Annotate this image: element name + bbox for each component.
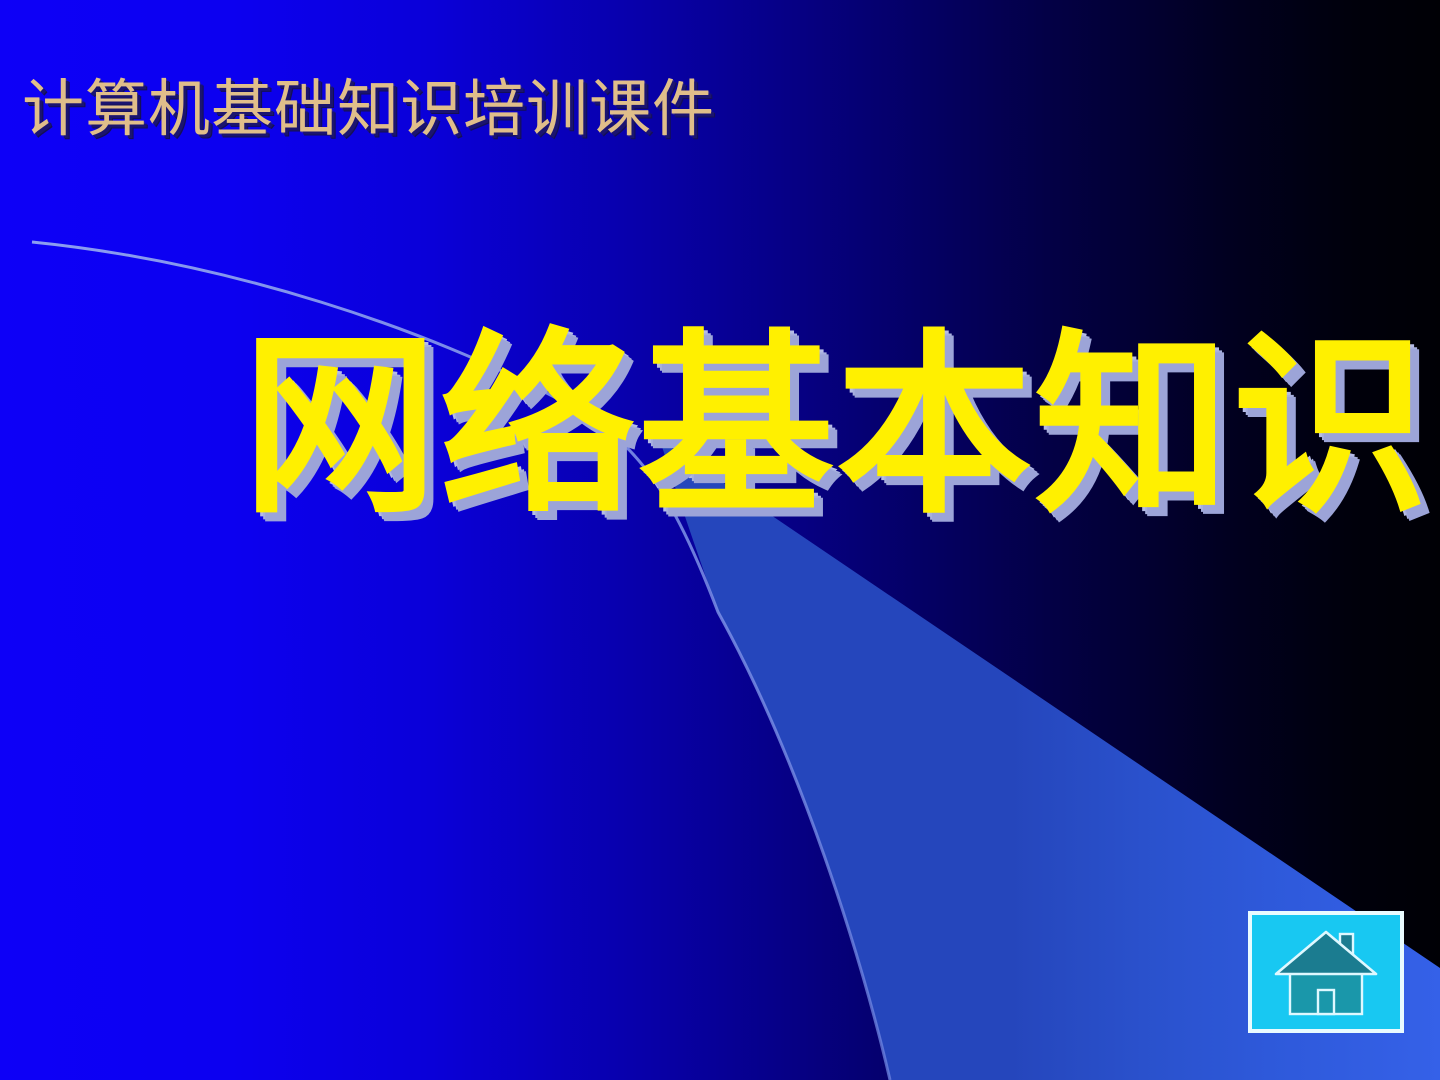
home-icon-door (1318, 990, 1334, 1014)
page-title: 计算机基础知识培训课件 (22, 78, 715, 140)
home-icon-roof (1276, 932, 1376, 974)
slide-main-title: 网络基本知识 (242, 328, 1430, 524)
home-button[interactable] (1248, 911, 1404, 1033)
slide-canvas: 计算机基础知识培训课件 网络基本知识 (0, 0, 1440, 1080)
home-icon (1268, 924, 1384, 1020)
